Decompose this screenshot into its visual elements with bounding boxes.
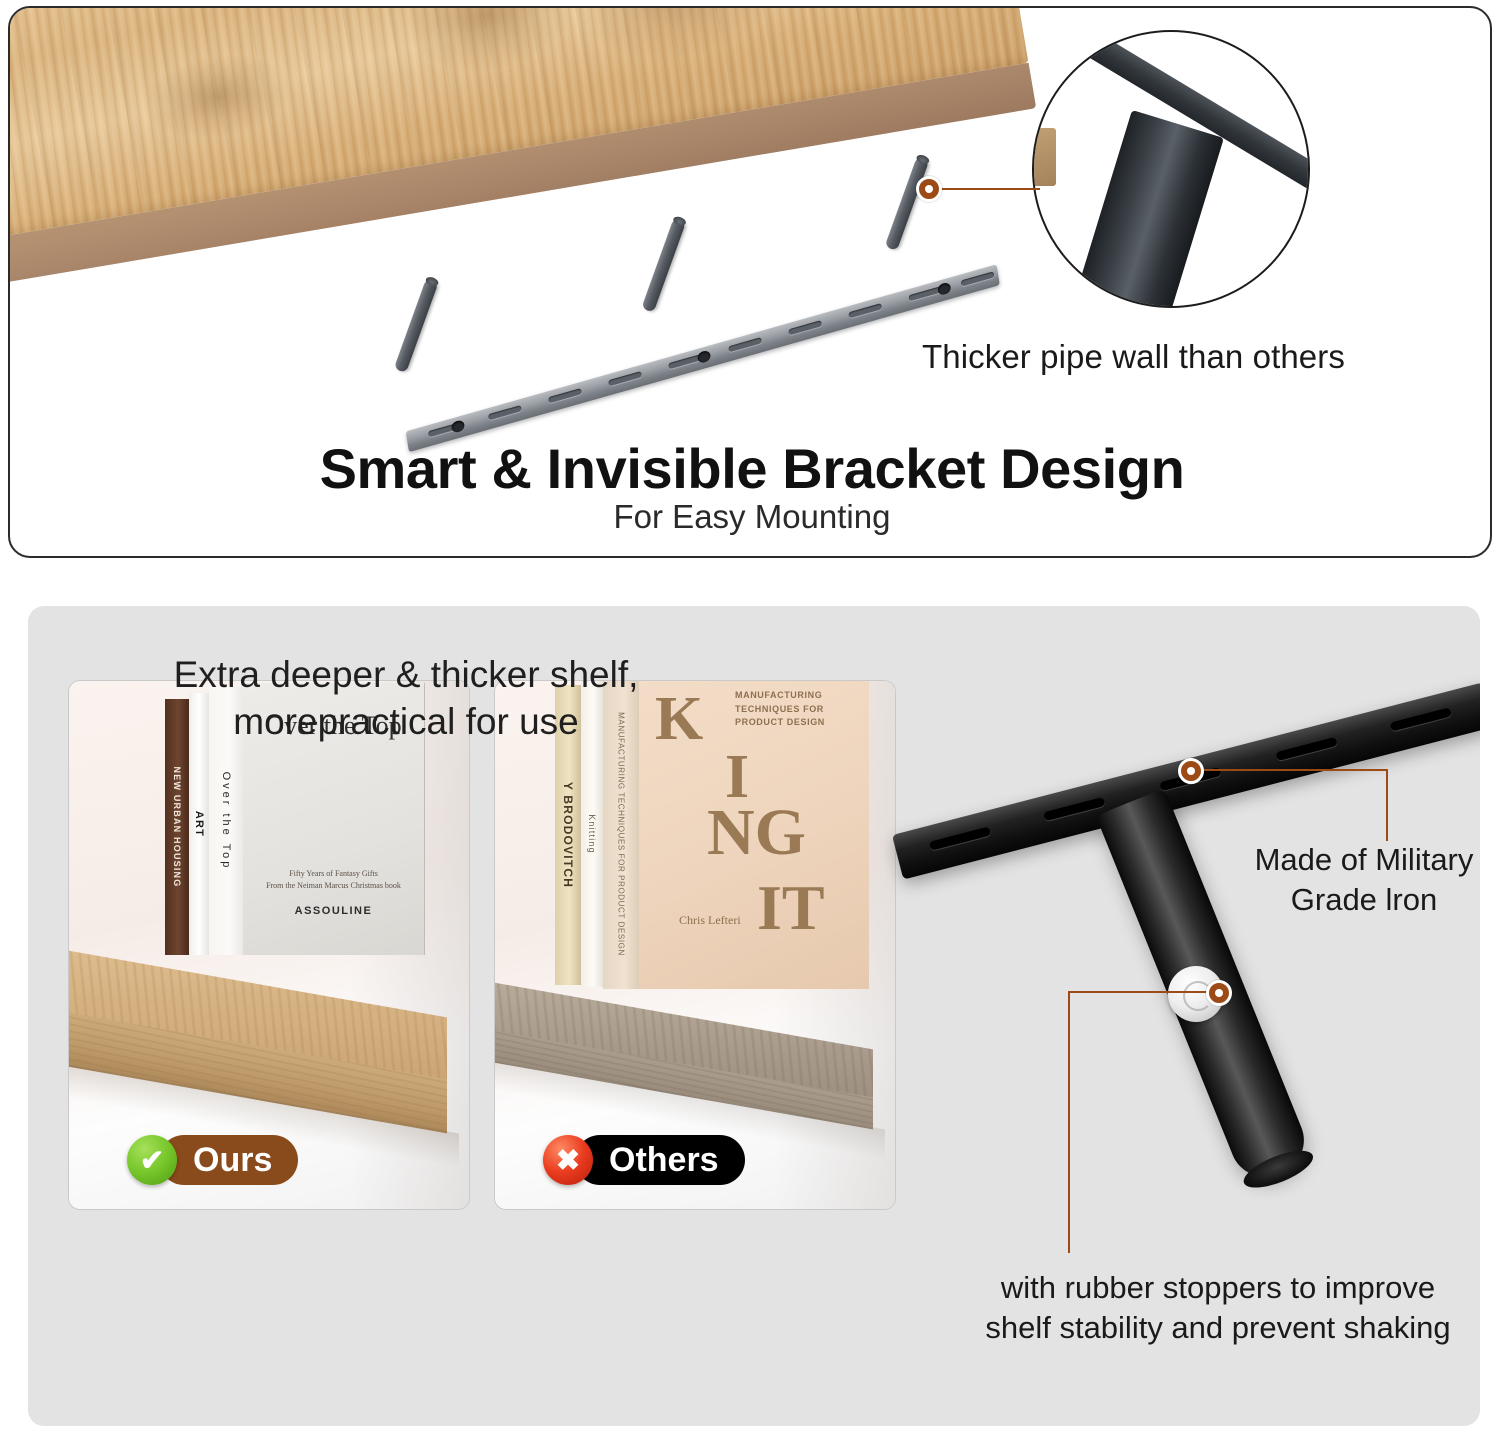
callout-label-thicker-pipe: Thicker pipe wall than others: [922, 338, 1442, 376]
cross-icon: ✖: [543, 1135, 593, 1185]
caption-line-2: morepractical for use: [26, 699, 786, 746]
badge-label: Ours: [159, 1135, 298, 1185]
magnifier-wood-corner: [1032, 128, 1056, 186]
comparison-card-ours: NEW URBAN HOUSING ART Over the Top Over …: [68, 680, 470, 1210]
callout-line-2: Grade lron: [1228, 880, 1500, 920]
callout-line-1: Made of Military: [1228, 840, 1500, 880]
badge-label: Others: [575, 1135, 745, 1185]
caption-extra-deeper: Extra deeper & thicker shelf, morepracti…: [26, 652, 786, 745]
bracket-rod-right: [885, 156, 930, 251]
bracket-joint-magnifier: [1032, 30, 1310, 308]
book-spine-label: Over the Top: [220, 772, 232, 871]
caption-line-1: with rubber stoppers to improve: [938, 1268, 1498, 1308]
page-subtitle: For Easy Mounting: [10, 498, 1492, 536]
shelf-bracket-illustration: [10, 8, 1070, 408]
book-publisher: ASSOULINE: [243, 905, 424, 917]
bracket-rod-mid: [641, 218, 686, 313]
book-cover-letters-it: IT: [757, 881, 825, 935]
callout-dot-rubber-stopper: [1206, 980, 1232, 1006]
book-cover-letters-ng: NG: [707, 805, 806, 860]
callout-dot-military-grade: [1178, 758, 1204, 784]
callout-dot-thicker-pipe: [916, 176, 942, 202]
bracket-rail-bar: [406, 264, 1000, 452]
callout-leader-military-h: [1198, 769, 1388, 771]
callout-leader-military-v: [1386, 769, 1388, 841]
comparison-card-others: Y BRODOVITCH Knitting MANUFACTURING TECH…: [494, 680, 896, 1210]
book-spine-label: ART: [193, 811, 205, 837]
page-title: Smart & Invisible Bracket Design: [10, 436, 1492, 501]
check-icon: ✔: [127, 1135, 177, 1185]
magnified-pipe: [1059, 110, 1224, 308]
caption-line-1: Extra deeper & thicker shelf,: [26, 652, 786, 699]
book-spine-label: NEW URBAN HOUSING: [172, 767, 182, 888]
top-panel: Thicker pipe wall than others Smart & In…: [8, 6, 1492, 558]
badge-others: ✖ Others: [543, 1135, 745, 1185]
caption-rubber-stoppers: with rubber stoppers to improve shelf st…: [938, 1268, 1498, 1349]
book-spine-label: Y BRODOVITCH: [561, 782, 575, 888]
callout-label-military-grade: Made of Military Grade lron: [1228, 840, 1500, 921]
black-t-bracket: [888, 606, 1480, 1296]
infographic-page: Thicker pipe wall than others Smart & In…: [0, 0, 1500, 1437]
pipe-end-cap: [1239, 1143, 1317, 1195]
callout-leader-line: [936, 188, 1040, 190]
callout-leader-stopper-h: [1068, 991, 1218, 993]
book-spine-label: Knitting: [587, 814, 597, 854]
book-author: Chris Lefteri: [679, 913, 741, 928]
book-cover-subtitle-1: Fifty Years of Fantasy Gifts: [243, 869, 424, 878]
callout-leader-stopper-v: [1068, 991, 1070, 1253]
badge-ours: ✔ Ours: [127, 1135, 298, 1185]
bracket-rod-left: [394, 278, 439, 373]
book-cover-subtitle-2: From the Neiman Marcus Christmas book: [243, 881, 424, 890]
book-spine-label: MANUFACTURING TECHNIQUES FOR PRODUCT DES…: [617, 712, 626, 956]
caption-line-2: shelf stability and prevent shaking: [938, 1308, 1498, 1348]
